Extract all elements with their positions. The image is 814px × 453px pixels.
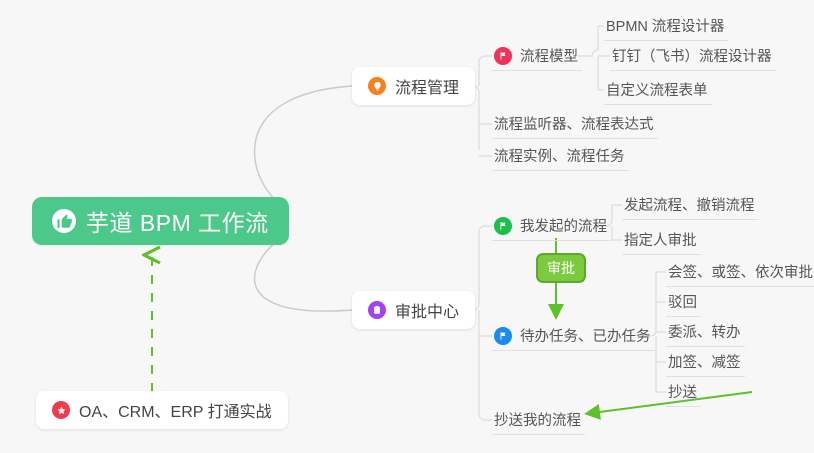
node-todo-done-tasks-label: 待办任务、已办任务 <box>520 325 651 346</box>
flag-icon <box>494 47 512 65</box>
node-add-remove-sign-label: 加签、减签 <box>668 351 741 372</box>
node-my-processes[interactable]: 我发起的流程 <box>492 211 611 241</box>
node-reject-label: 驳回 <box>668 291 697 312</box>
node-add-remove-sign[interactable]: 加签、减签 <box>666 347 745 377</box>
node-process-model[interactable]: 流程模型 <box>492 41 582 71</box>
edge-root-to-process-management <box>255 86 352 205</box>
node-reject[interactable]: 驳回 <box>666 287 701 317</box>
node-todo-done-tasks[interactable]: 待办任务、已办任务 <box>492 321 655 351</box>
edge-process-management-spine-up <box>479 56 492 86</box>
annotation-badge-approve-label: 审批 <box>547 258 575 278</box>
edge-root-to-approval-center <box>255 238 352 311</box>
node-dingtalk-designer-label: 钉钉（飞书）流程设计器 <box>612 45 772 66</box>
node-countersign-label: 会签、或签、依次审批 <box>668 261 813 282</box>
edge-approval-center-spine-down <box>479 310 492 420</box>
root-label: 芋道 BPM 工作流 <box>86 204 269 238</box>
node-custom-form-label: 自定义流程表单 <box>606 79 708 100</box>
node-custom-form[interactable]: 自定义流程表单 <box>604 75 712 105</box>
annotation-badge-approve: 审批 <box>536 253 586 283</box>
branch-approval-center[interactable]: 审批中心 <box>352 291 475 329</box>
root-node[interactable]: 芋道 BPM 工作流 <box>32 197 289 245</box>
flag-icon <box>494 217 512 235</box>
node-process-instance[interactable]: 流程实例、流程任务 <box>492 141 629 171</box>
thumbs-up-icon <box>52 209 76 233</box>
mindmap-canvas: 芋道 BPM 工作流 流程管理 流程模型 BPMN 流程设计器 钉钉（飞书）流程… <box>0 0 814 453</box>
node-process-listener[interactable]: 流程监听器、流程表达式 <box>492 109 658 139</box>
branch-approval-center-label: 审批中心 <box>395 298 459 322</box>
node-cc-to-me-label: 抄送我的流程 <box>494 409 581 430</box>
star-icon <box>52 401 70 419</box>
branch-process-management-label: 流程管理 <box>395 74 459 98</box>
clipboard-icon <box>368 301 386 319</box>
node-process-instance-label: 流程实例、流程任务 <box>494 145 625 166</box>
node-process-model-label: 流程模型 <box>520 45 578 66</box>
node-cc-label: 抄送 <box>668 381 697 402</box>
node-dingtalk-designer[interactable]: 钉钉（飞书）流程设计器 <box>610 41 776 71</box>
callout-integration-label: OA、CRM、ERP 打通实战 <box>79 398 272 422</box>
node-delegate-transfer-label: 委派、转办 <box>668 321 741 342</box>
node-start-cancel-process-label: 发起流程、撤销流程 <box>624 194 755 215</box>
node-delegate-transfer[interactable]: 委派、转办 <box>666 317 745 347</box>
node-cc[interactable]: 抄送 <box>666 377 701 407</box>
callout-integration-card[interactable]: OA、CRM、ERP 打通实战 <box>36 391 288 429</box>
branch-process-management[interactable]: 流程管理 <box>352 67 475 105</box>
node-process-listener-label: 流程监听器、流程表达式 <box>494 113 654 134</box>
node-my-processes-label: 我发起的流程 <box>520 215 607 236</box>
lightbulb-icon <box>368 77 386 95</box>
node-countersign[interactable]: 会签、或签、依次审批 <box>666 257 814 287</box>
node-cc-to-me[interactable]: 抄送我的流程 <box>492 405 585 435</box>
node-bpmn-designer[interactable]: BPMN 流程设计器 <box>604 11 728 41</box>
node-assignee-approval-label: 指定人审批 <box>624 229 697 250</box>
flag-icon <box>494 327 512 345</box>
node-assignee-approval[interactable]: 指定人审批 <box>622 225 701 255</box>
node-bpmn-designer-label: BPMN 流程设计器 <box>606 15 724 36</box>
node-start-cancel-process[interactable]: 发起流程、撤销流程 <box>622 190 759 220</box>
